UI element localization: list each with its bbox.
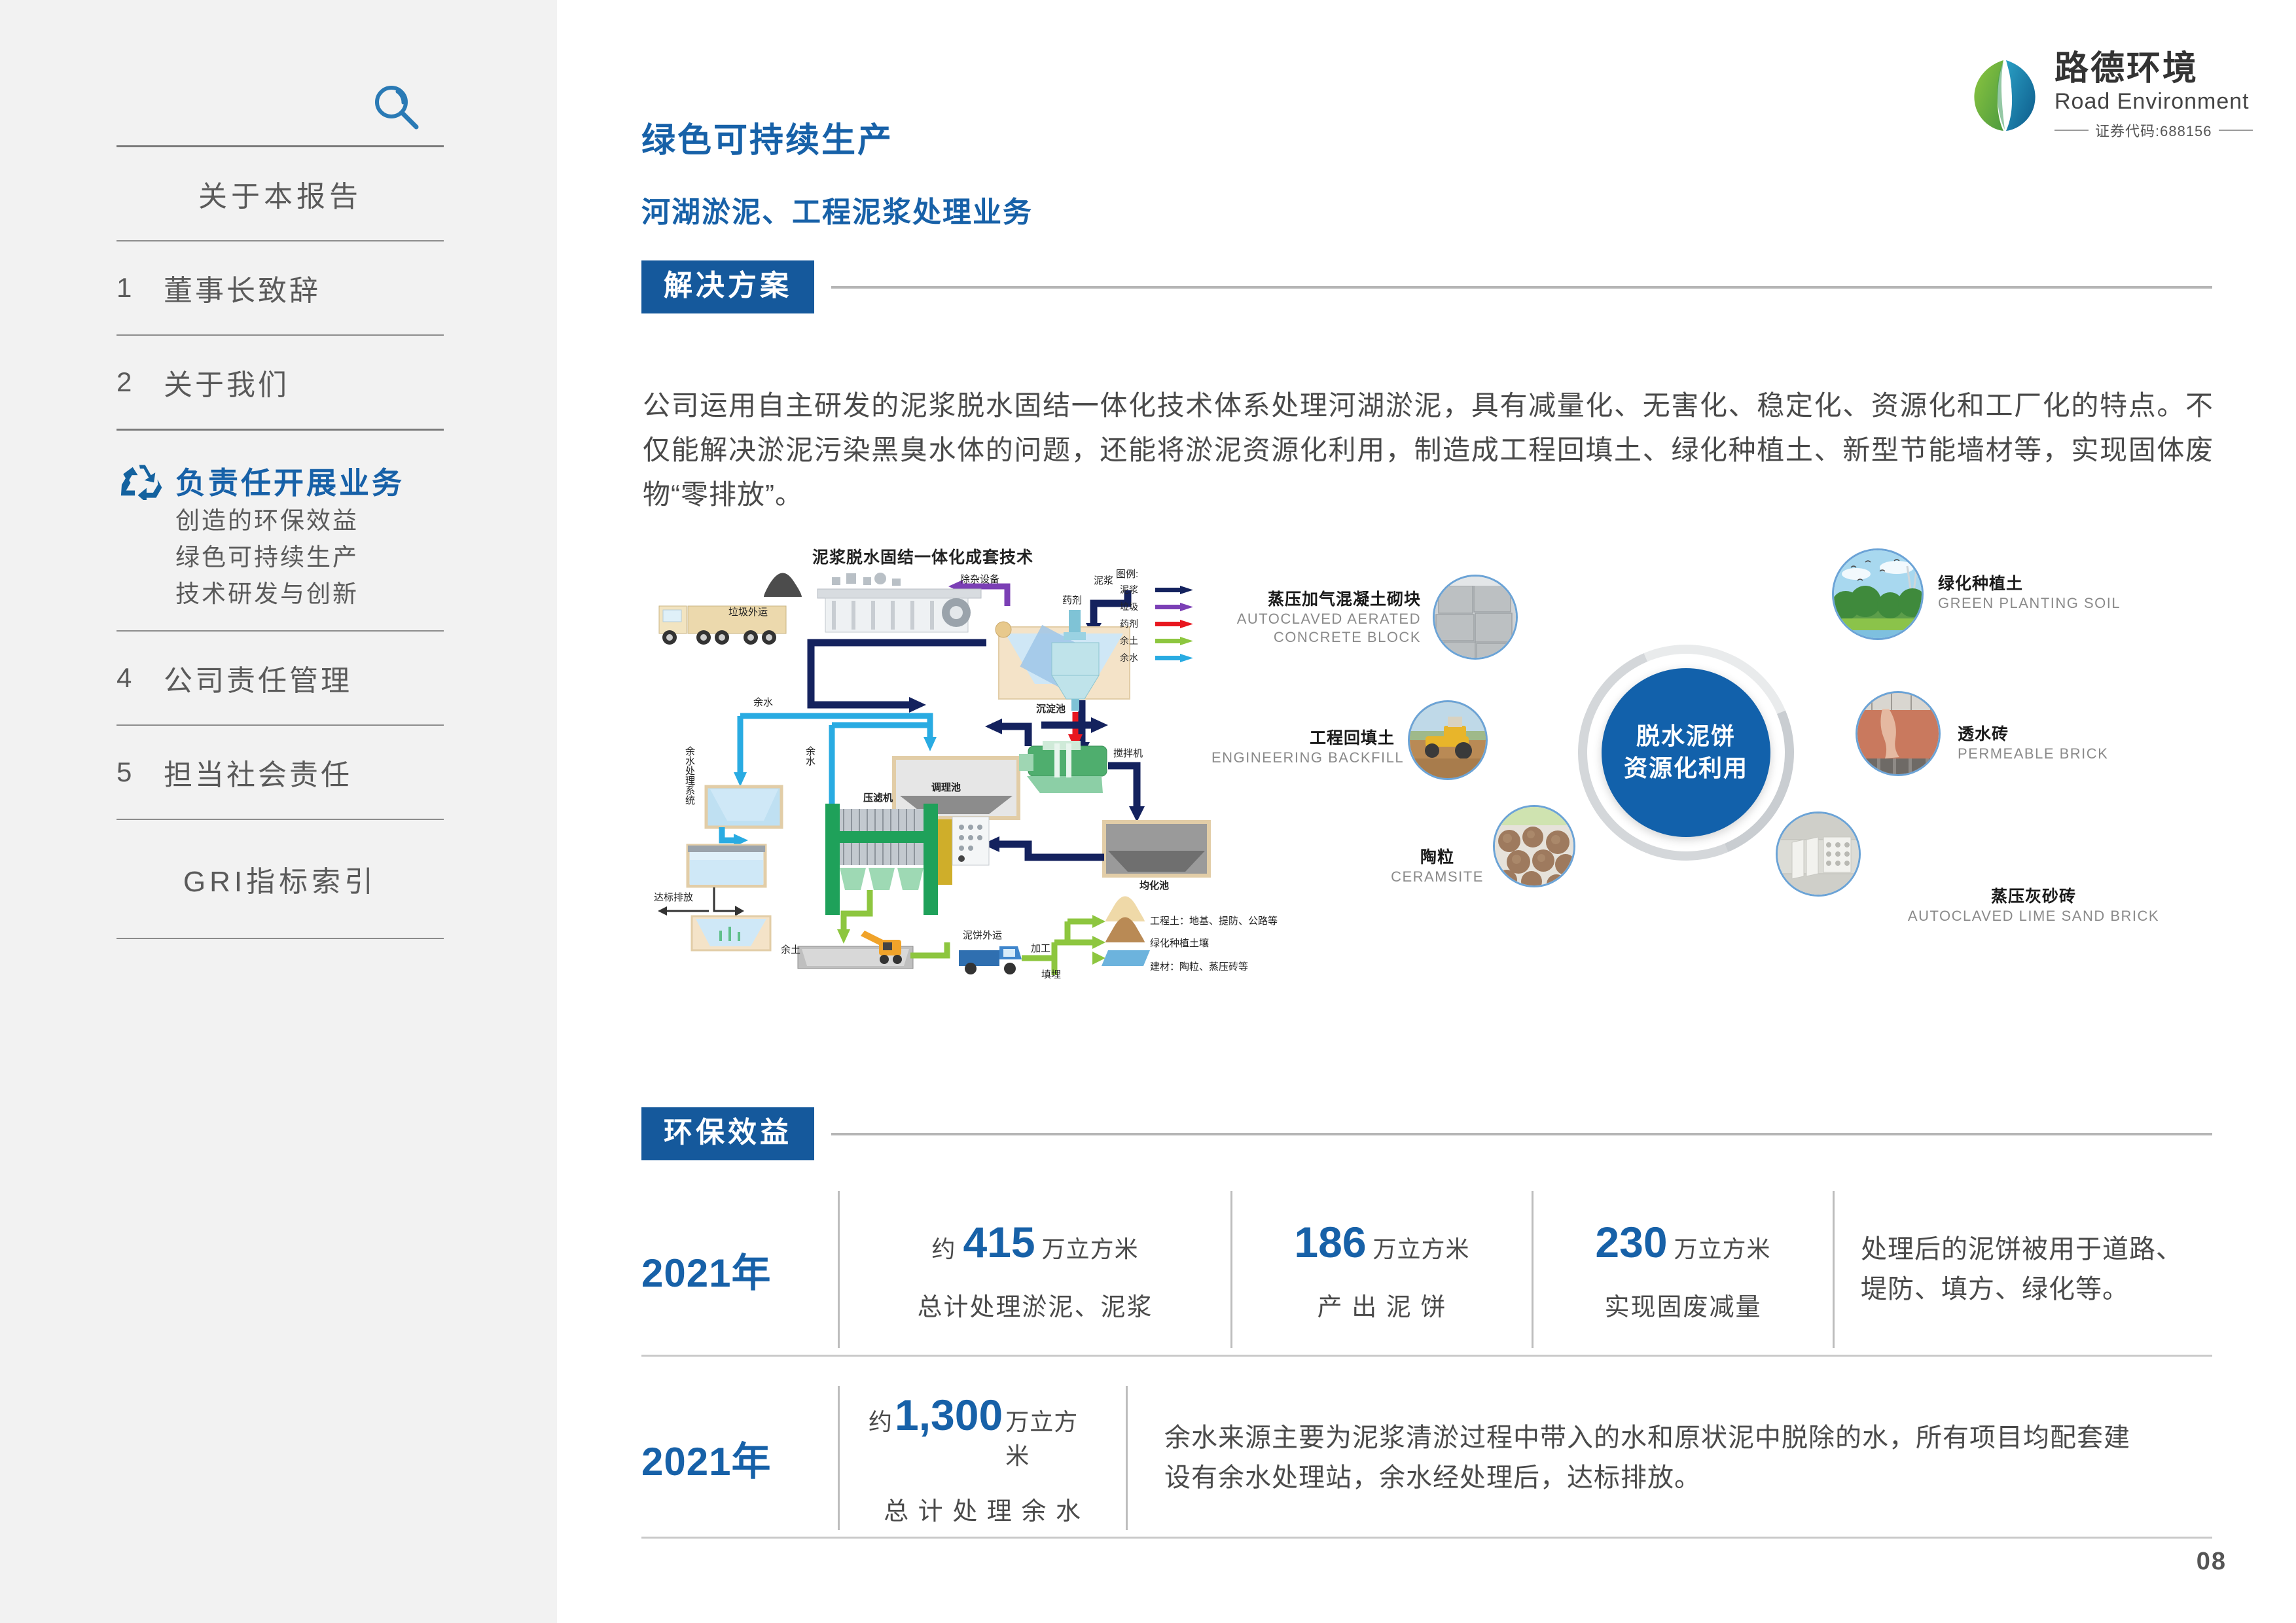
page-number: 08 xyxy=(2197,1548,2227,1576)
stat-year: 2021年 xyxy=(641,1386,838,1530)
sidebar-item-number: 4 xyxy=(117,662,164,694)
legend-item: 垃圾 xyxy=(1120,600,1194,613)
main-content: 路德环境 Road Environment 证券代码:688156 绿色可持续生… xyxy=(557,0,2296,1623)
ceramsite-photo xyxy=(1493,805,1575,887)
sidebar-item-responsibility-management[interactable]: 4 公司责任管理 xyxy=(117,632,444,724)
product-name-en: AUTOCLAVED AERATEDCONCRETE BLOCK xyxy=(1211,610,1421,646)
sidebar-subitem-rnd-innovation[interactable]: 技术研发与创新 xyxy=(175,576,444,613)
section-rule xyxy=(831,1133,2212,1135)
sidebar-subitem-green-production[interactable]: 绿色可持续生产 xyxy=(175,539,444,576)
product-name-en: CERAMSITE xyxy=(1388,868,1486,886)
sidebar-item-label: 关于我们 xyxy=(164,361,289,403)
backfill-photo xyxy=(1408,700,1488,780)
product-name-cn: 蒸压加气混凝土砌块 xyxy=(1211,586,1421,610)
sidebar-item-chairman-message[interactable]: 1 董事长致辞 xyxy=(117,241,444,334)
search-button[interactable] xyxy=(367,77,425,136)
recycle-icon xyxy=(117,462,165,500)
section-header-solution: 解决方案 xyxy=(641,260,2212,313)
stat-caption: 实现固废减量 xyxy=(1604,1287,1761,1323)
sidebar-item-label: 公司责任管理 xyxy=(164,657,352,699)
flow-label-filter-press: 压滤机 xyxy=(863,791,893,804)
logo-stock-code: 证券代码:688156 xyxy=(2095,120,2212,141)
section-header-benefit: 环保效益 xyxy=(641,1107,2212,1160)
body-paragraph: 公司运用自主研发的泥浆脱水固结一体化技术体系处理河湖淤泥，具有减量化、无害化、稳… xyxy=(643,383,2214,517)
stat-number: 415 xyxy=(963,1217,1035,1267)
product-name-cn: 陶粒 xyxy=(1388,844,1486,868)
flow-label-mixer: 搅拌机 xyxy=(1113,746,1143,760)
legend-label: 余水 xyxy=(1120,651,1149,664)
stat-caption: 总计处理淤泥、泥浆 xyxy=(917,1287,1153,1323)
page-title: 绿色可持续生产 xyxy=(641,113,893,162)
sidebar-item-label: GRI指标索引 xyxy=(183,858,377,900)
product-label-permeable-brick: 透水砖 PERMEABLE BRICK xyxy=(1958,721,2206,763)
flow-label-conditioning-tank: 调理池 xyxy=(931,780,961,794)
sidebar-item-label: 关于本报告 xyxy=(198,173,362,215)
sidebar-item-label: 董事长致辞 xyxy=(164,267,321,309)
sidebar-subitem-eco-benefit[interactable]: 创造的环保效益 xyxy=(175,503,444,539)
table-of-contents: 关于本报告 1 董事长致辞 2 关于我们 负责任开展业务 创造的环保效 xyxy=(117,145,444,939)
logo-company-name-cn: 路德环境 xyxy=(2054,51,2253,87)
stats-row-1: 2021年 约 415 万立方米 总计处理淤泥、泥浆 186 万立方米 产 出 … xyxy=(641,1191,2212,1348)
legend-item: 余土 xyxy=(1120,634,1194,647)
legend-item: 泥浆 xyxy=(1120,583,1194,596)
stat-number: 186 xyxy=(1294,1217,1366,1267)
sidebar-item-about-us[interactable]: 2 关于我们 xyxy=(117,336,444,429)
flow-label-water-treatment-system: 余水处理系统 xyxy=(683,746,696,805)
sidebar-item-social-responsibility[interactable]: 5 担当社会责任 xyxy=(117,726,444,819)
flow-label-surplus-water-2: 余水 xyxy=(803,746,817,766)
product-name-en: PERMEABLE BRICK xyxy=(1958,745,2206,763)
sidebar-item-responsible-business[interactable]: 负责任开展业务 创造的环保效益 绿色可持续生产 技术研发与创新 xyxy=(117,431,444,630)
stat-unit: 万立方米 xyxy=(1005,1403,1097,1471)
flow-label-sedimentation-tank: 沉淀池 xyxy=(1036,702,1066,715)
flow-label-cake-transport: 泥饼外运 xyxy=(963,928,1002,942)
rule-right xyxy=(2219,130,2253,131)
legend-item: 余水 xyxy=(1120,651,1194,664)
lime-sand-brick-photo xyxy=(1776,811,1861,897)
product-label-planting-soil: 绿化种植土 GREEN PLANTING SOIL xyxy=(1938,571,2213,613)
search-icon xyxy=(367,77,425,136)
sidebar-item-label: 担当社会责任 xyxy=(164,751,352,793)
legend-item: 药剂 xyxy=(1120,617,1194,630)
section-chip-label: 解决方案 xyxy=(641,260,814,313)
center-badge-line1: 脱水泥饼 xyxy=(1636,721,1736,753)
stats-row-2: 2021年 约 1,300 万立方米 总 计 处 理 余 水 余水来源主要为泥浆… xyxy=(641,1386,2212,1530)
sidebar-item-about-report[interactable]: 关于本报告 xyxy=(117,147,444,240)
flow-label-standard-discharge: 达标排放 xyxy=(654,890,693,904)
divider xyxy=(117,938,444,939)
legend-label: 余土 xyxy=(1120,634,1149,647)
flow-label-reagent: 药剂 xyxy=(1062,593,1082,607)
stat-unit: 万立方米 xyxy=(1674,1230,1771,1264)
product-name-en: ENGINEERING BACKFILL xyxy=(1211,749,1395,767)
center-badge: 脱水泥饼 资源化利用 xyxy=(1602,668,1770,837)
diagram-area: 泥浆脱水固结一体化成套技术 xyxy=(636,550,2252,975)
product-name-en: GREEN PLANTING SOIL xyxy=(1938,594,2213,613)
flow-label-homogenizing-tank: 均化池 xyxy=(1139,878,1169,892)
product-name-cn: 透水砖 xyxy=(1958,721,2206,745)
legend-title: 图例: xyxy=(1116,567,1194,580)
stat-cell-cake-output: 186 万立方米 产 出 泥 饼 xyxy=(1230,1191,1532,1348)
rule-left xyxy=(2054,130,2089,131)
stat-unit: 万立方米 xyxy=(1042,1230,1139,1264)
permeable-brick-photo xyxy=(1856,691,1941,776)
flow-label-output-planting-soil: 绿化种植土壤 xyxy=(1150,936,1209,950)
stats-divider xyxy=(641,1355,2212,1357)
stat-caption: 总 计 处 理 余 水 xyxy=(884,1491,1082,1527)
stat-number: 230 xyxy=(1595,1217,1667,1267)
sidebar-item-number: 1 xyxy=(117,272,164,304)
flow-label-surplus-water-1: 余水 xyxy=(753,695,773,709)
product-label-backfill: 工程回填土 ENGINEERING BACKFILL xyxy=(1211,725,1395,767)
stat-number: 1,300 xyxy=(895,1390,1003,1440)
arrow-icon xyxy=(1155,603,1194,611)
resource-utilization-diagram: 脱水泥饼 资源化利用 蒸压加气混凝土砌块 AUTOCLAVED AERATEDC… xyxy=(1211,537,2252,982)
product-name-cn: 绿化种植土 xyxy=(1938,571,2213,594)
legend-label: 药剂 xyxy=(1120,617,1149,630)
flow-label-landfill: 填埋 xyxy=(1041,967,1061,981)
sidebar: 关于本报告 1 董事长致辞 2 关于我们 负责任开展业务 创造的环保效 xyxy=(0,0,557,1623)
logo-company-name-en: Road Environment xyxy=(2054,89,2253,115)
stats-divider-bottom xyxy=(641,1537,2212,1539)
page-subtitle: 河湖淤泥、工程泥浆处理业务 xyxy=(641,188,1033,230)
product-name-cn: 工程回填土 xyxy=(1211,725,1395,749)
flow-label-garbage-out: 垃圾外运 xyxy=(728,605,768,618)
concrete-block-photo xyxy=(1433,575,1518,660)
center-badge-line2: 资源化利用 xyxy=(1624,753,1748,785)
flow-label-processing: 加工 xyxy=(1031,941,1050,955)
stat-note-1: 处理后的泥饼被用于道路、堤防、填方、绿化等。 xyxy=(1833,1191,2199,1348)
stat-cell-sludge-treated: 约 415 万立方米 总计处理淤泥、泥浆 xyxy=(838,1191,1230,1348)
arrow-icon xyxy=(1155,637,1194,645)
company-logo: 路德环境 Road Environment 证券代码:688156 xyxy=(1968,51,2253,141)
sidebar-item-number: 2 xyxy=(117,366,164,398)
arrow-icon xyxy=(1155,620,1194,628)
product-name-cn: 蒸压灰砂砖 xyxy=(1863,883,2204,907)
logo-stock-code-row: 证券代码:688156 xyxy=(2054,120,2253,141)
flow-label-surplus-soil: 余土 xyxy=(781,942,800,956)
legend-label: 垃圾 xyxy=(1120,600,1149,613)
leaf-logo-icon xyxy=(1968,56,2041,135)
section-rule xyxy=(831,286,2212,289)
stat-approx: 约 xyxy=(931,1230,955,1264)
planting-soil-photo xyxy=(1832,548,1924,640)
sidebar-item-label: 负责任开展业务 xyxy=(175,459,404,503)
product-label-lime-sand-brick: 蒸压灰砂砖 AUTOCLAVED LIME SAND BRICK xyxy=(1863,883,2204,925)
stat-note-2: 余水来源主要为泥浆清淤过程中带入的水和原状泥中脱除的水，所有项目均配套建设有余水… xyxy=(1126,1386,2147,1530)
product-label-ceramsite: 陶粒 CERAMSITE xyxy=(1388,844,1486,886)
sidebar-item-gri-index[interactable]: GRI指标索引 xyxy=(117,820,444,938)
arrow-icon xyxy=(1155,586,1194,594)
arrow-icon xyxy=(1155,654,1194,662)
flow-label-screening: 除杂设备 xyxy=(960,572,999,586)
stat-year: 2021年 xyxy=(641,1191,838,1348)
stat-approx: 约 xyxy=(869,1403,892,1437)
process-flowchart: 泥浆脱水固结一体化成套技术 xyxy=(636,550,1225,975)
product-label-concrete-block: 蒸压加气混凝土砌块 AUTOCLAVED AERATEDCONCRETE BLO… xyxy=(1211,586,1421,646)
stat-cell-solid-waste-reduction: 230 万立方米 实现固废减量 xyxy=(1532,1191,1833,1348)
flow-label-slurry-in: 泥浆 xyxy=(1094,573,1113,587)
legend-label: 泥浆 xyxy=(1120,583,1149,596)
sidebar-item-number: 5 xyxy=(117,757,164,788)
stat-caption: 产 出 泥 饼 xyxy=(1318,1287,1447,1323)
product-name-en: AUTOCLAVED LIME SAND BRICK xyxy=(1863,907,2204,925)
flowchart-legend: 图例: 泥浆 垃圾 药剂 余土 余水 xyxy=(1120,567,1194,668)
section-chip-label: 环保效益 xyxy=(641,1107,814,1160)
stat-cell-water-treated: 约 1,300 万立方米 总 计 处 理 余 水 xyxy=(838,1386,1126,1530)
stat-unit: 万立方米 xyxy=(1373,1230,1470,1264)
